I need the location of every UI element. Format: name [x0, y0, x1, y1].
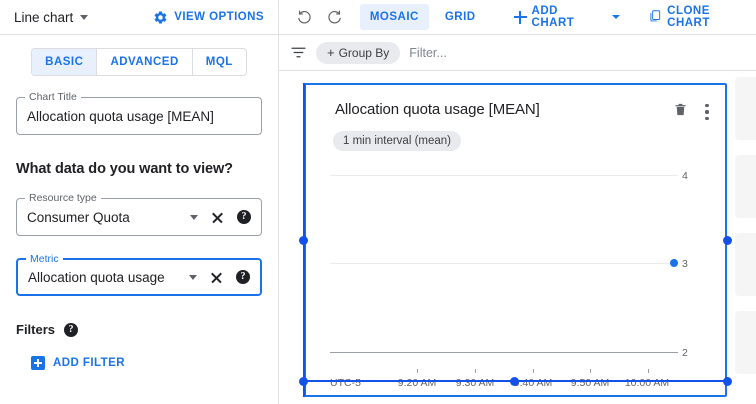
config-tabs-container: BASIC ADVANCED MQL — [0, 35, 278, 76]
data-point[interactable] — [670, 259, 678, 267]
add-chart-button[interactable]: ADD CHART — [514, 4, 621, 30]
resize-handle-left-middle[interactable] — [299, 236, 308, 245]
layout-grid-label: GRID — [445, 11, 476, 23]
chart-title-field-wrap: Chart Title Allocation quota usage [MEAN… — [0, 97, 278, 135]
sidebar-header: Line chart VIEW OPTIONS — [0, 0, 278, 35]
clone-chart-label: CLONE CHART — [667, 5, 756, 29]
clear-icon[interactable] — [210, 271, 223, 284]
adjacent-card-partial[interactable] — [735, 77, 756, 140]
chart-title-input[interactable]: Chart Title Allocation quota usage [MEAN… — [16, 97, 262, 135]
x-tick-label: 9:50 AM — [560, 377, 620, 389]
tab-mql[interactable]: MQL — [193, 49, 246, 75]
x-tick-mark — [590, 369, 591, 373]
chevron-down-icon[interactable] — [190, 215, 198, 220]
metric-select[interactable]: Metric Allocation quota usage ? — [16, 258, 262, 296]
layout-toggle: MOSAIC GRID — [360, 4, 486, 30]
chart-config-sidebar: Line chart VIEW OPTIONS BASIC ADVANCED M — [0, 0, 279, 404]
resize-handle-bottom-center[interactable] — [510, 377, 519, 386]
x-tick-mark — [648, 369, 649, 373]
y-tick-label: 4 — [682, 171, 688, 181]
x-tick-label: 10:00 AM — [616, 377, 678, 389]
filters-label: Filters — [16, 322, 55, 337]
tab-basic[interactable]: BASIC — [32, 49, 97, 75]
x-tick-mark — [475, 369, 476, 373]
group-by-chip[interactable]: + Group By — [316, 42, 400, 64]
x-tick-mark — [417, 369, 418, 373]
layout-mosaic-button[interactable]: MOSAIC — [360, 4, 429, 30]
chart-canvas: Allocation quota usage [MEAN] 1 min inte… — [279, 71, 756, 404]
tab-basic-label: BASIC — [45, 56, 83, 68]
x-tick-label: 9:30 AM — [445, 377, 505, 389]
line-chart-plot: 4 3 2 UTC-5 9:20 AM 9:30 AM 9:40 AM 9:50… — [306, 85, 729, 399]
adjacent-card-partial[interactable] — [735, 155, 756, 218]
gear-icon — [153, 10, 168, 25]
adjacent-card-partial[interactable] — [735, 233, 756, 296]
filter-funnel-icon[interactable] — [290, 44, 307, 61]
resource-type-icons: ? — [188, 210, 251, 224]
data-section-heading: What data do you want to view? — [0, 161, 278, 177]
adjacent-card-partial[interactable] — [735, 311, 756, 374]
x-tick-mark — [533, 369, 534, 373]
add-chart-label: ADD CHART — [532, 5, 605, 29]
tab-advanced-label: ADVANCED — [110, 56, 178, 68]
layout-mosaic-label: MOSAIC — [370, 11, 419, 23]
layout-grid-button[interactable]: GRID — [435, 4, 486, 30]
timezone-label: UTC-5 — [330, 377, 374, 389]
gridline-y4 — [330, 175, 678, 176]
resize-handle-bottom-right[interactable] — [723, 377, 732, 386]
metric-value: Allocation quota usage — [28, 270, 181, 285]
filters-heading: Filters ? — [0, 322, 278, 337]
plus-icon: + — [327, 46, 335, 59]
help-icon[interactable]: ? — [64, 323, 78, 337]
clone-chart-button[interactable]: CLONE CHART — [648, 4, 756, 30]
chart-title-label: Chart Title — [25, 91, 81, 103]
plus-icon — [514, 11, 527, 24]
clone-icon — [648, 9, 662, 26]
group-by-label: Group By — [339, 46, 390, 60]
dashboard-area: MOSAIC GRID ADD CHART CLONE CHART — [279, 0, 756, 404]
resource-type-value: Consumer Quota — [27, 210, 182, 225]
y-tick-label: 3 — [682, 259, 688, 269]
undo-icon[interactable] — [291, 3, 319, 31]
chart-editor-page: Line chart VIEW OPTIONS BASIC ADVANCED M — [0, 0, 756, 404]
redo-icon[interactable] — [321, 3, 349, 31]
add-filter-button[interactable]: ADD FILTER — [0, 356, 278, 370]
chevron-down-icon — [80, 15, 88, 20]
resource-type-field-wrap: Resource type Consumer Quota ? — [0, 198, 278, 236]
view-options-button[interactable]: VIEW OPTIONS — [153, 10, 264, 25]
chevron-down-icon[interactable] — [189, 275, 197, 280]
view-options-label: VIEW OPTIONS — [174, 11, 264, 23]
metric-field-wrap: Metric Allocation quota usage ? — [0, 258, 278, 296]
chart-title-value: Allocation quota usage [MEAN] — [27, 109, 251, 124]
tab-advanced[interactable]: ADVANCED — [97, 49, 192, 75]
metric-icons: ? — [187, 270, 250, 284]
chevron-down-icon — [612, 15, 620, 19]
x-tick-label: 9:20 AM — [387, 377, 447, 389]
help-icon[interactable]: ? — [237, 210, 251, 224]
x-axis-line — [330, 352, 678, 353]
gridline-y3 — [330, 263, 678, 264]
plus-icon — [31, 356, 45, 370]
chart-type-label: Line chart — [14, 10, 73, 25]
chart-type-dropdown[interactable]: Line chart — [14, 10, 88, 25]
resource-type-select[interactable]: Resource type Consumer Quota ? — [16, 198, 262, 236]
chart-card[interactable]: Allocation quota usage [MEAN] 1 min inte… — [304, 83, 727, 397]
filter-bar: + Group By Filter... — [279, 35, 756, 71]
resource-type-label: Resource type — [25, 192, 101, 204]
resize-handle-right-middle[interactable] — [723, 236, 732, 245]
tab-mql-label: MQL — [206, 56, 233, 68]
dashboard-toolbar: MOSAIC GRID ADD CHART CLONE CHART — [279, 0, 756, 35]
config-tabs: BASIC ADVANCED MQL — [31, 48, 247, 76]
clear-icon[interactable] — [211, 211, 224, 224]
y-tick-label: 2 — [682, 348, 688, 358]
filter-input[interactable]: Filter... — [409, 46, 447, 60]
metric-label: Metric — [26, 253, 63, 265]
add-filter-label: ADD FILTER — [53, 357, 125, 369]
help-icon[interactable]: ? — [236, 270, 250, 284]
resize-handle-bottom-left[interactable] — [299, 377, 308, 386]
